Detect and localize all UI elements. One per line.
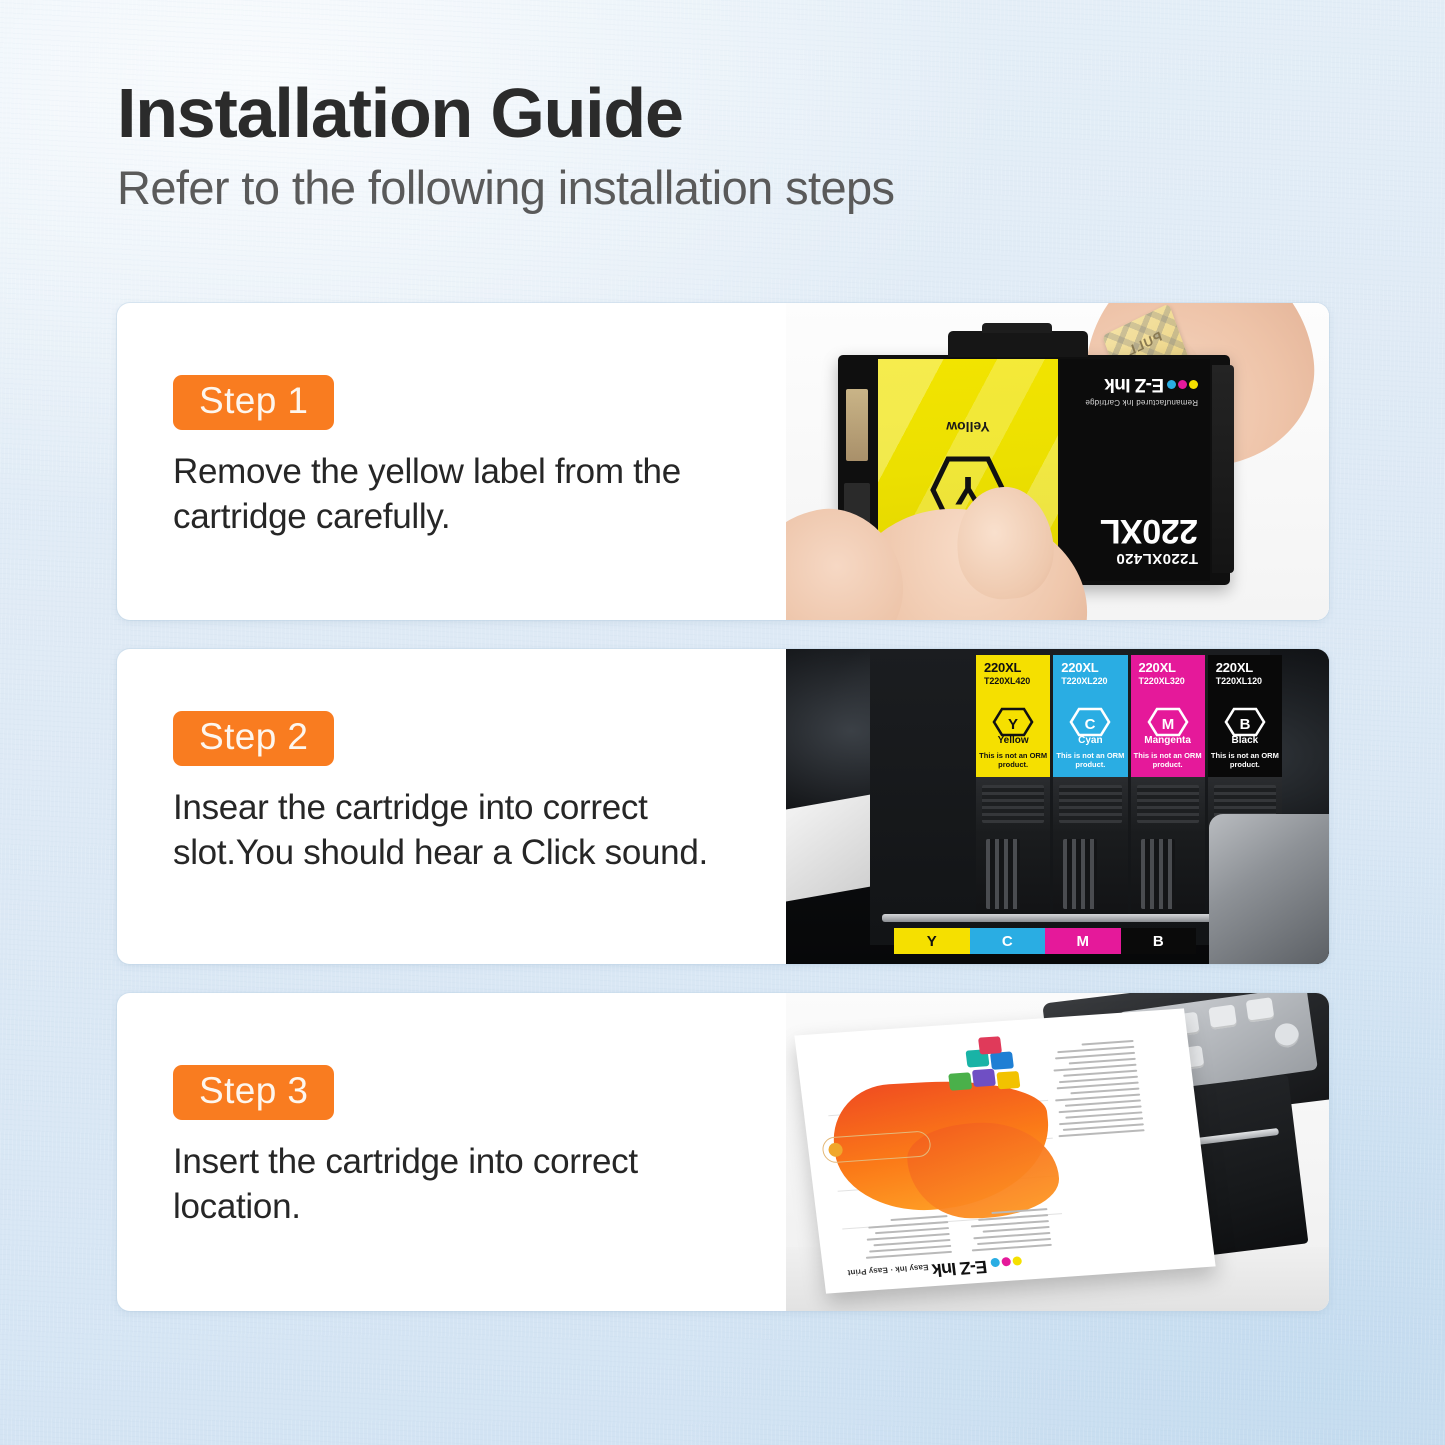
color-block-red <box>978 1036 1002 1054</box>
cartridge-black-model: 220XL <box>1216 661 1282 674</box>
cartridge-part-number: T220XL420 <box>1072 550 1198 567</box>
step-3-text-panel: Step 3 Insert the cartridge into correct… <box>117 993 786 1311</box>
paper-edge <box>786 793 882 902</box>
printed-brand-tagline: Easy Ink · Easy Print <box>847 1262 929 1277</box>
step-1-image: PULL Yellow Y T220X <box>786 303 1329 620</box>
cartridge-cap <box>948 331 1088 357</box>
cartridge-black-part: T220XL120 <box>1216 676 1282 686</box>
header: Installation Guide Refer to the followin… <box>117 78 1337 213</box>
step-3-description: Insert the cartridge into correct locati… <box>173 1140 753 1230</box>
step-3-image: E-Z Ink Easy Ink · Easy Print <box>786 993 1329 1311</box>
cartridge-cyan-part: T220XL220 <box>1061 676 1127 686</box>
black-label-panel: T220XL420 220XL Remanufactured Ink Cartr… <box>1060 359 1210 581</box>
color-block-green <box>948 1072 972 1090</box>
carriage-rail <box>882 914 1212 922</box>
color-block-blue <box>990 1051 1014 1069</box>
step-card-2: Step 2 Insear the cartridge into correct… <box>117 649 1329 964</box>
printed-brand-logo: E-Z Ink Easy Ink · Easy Print <box>847 1256 1023 1284</box>
cartridge-cyan-name: Cyan <box>1053 735 1127 746</box>
step-card-1: Step 1 Remove the yellow label from the … <box>117 303 1329 620</box>
cartridge-cyan: 220XL T220XL220 C Cyan This is not an OR… <box>1053 655 1127 777</box>
color-blocks-graphic <box>924 1036 1020 1094</box>
step-1-description: Remove the yellow label from the cartrid… <box>173 450 753 540</box>
step-3-badge: Step 3 <box>173 1065 334 1120</box>
step-2-image: 220XL T220XL420 Y Yellow This is not an … <box>786 649 1329 964</box>
cmyk-dots-icon <box>990 1256 1022 1267</box>
slot-color-strip: Y C M B <box>894 928 1196 954</box>
panel-button-3 <box>1208 1004 1237 1029</box>
brand-block: Remanufactured Ink Cartridge E-Z Ink <box>1085 373 1198 407</box>
step-2-description: Insear the cartridge into correct slot.Y… <box>173 786 753 876</box>
step-1-badge: Step 1 <box>173 375 334 430</box>
text-column-middle <box>967 1204 1052 1251</box>
power-button-icon <box>1273 1022 1300 1049</box>
cartridge-black-disclaimer: This is not an ORM product. <box>1208 751 1282 770</box>
text-column-left <box>861 1211 952 1259</box>
cartridge-yellow-name: Yellow <box>976 735 1050 746</box>
step-card-3: Step 3 Insert the cartridge into correct… <box>117 993 1329 1311</box>
cartridge-cyan-disclaimer: This is not an ORM product. <box>1053 751 1127 770</box>
cartridge-magenta-part: T220XL320 <box>1139 676 1205 686</box>
cartridge-black: 220XL T220XL120 B Black This is not an O… <box>1208 655 1282 777</box>
cartridge-magenta-model: 220XL <box>1139 661 1205 674</box>
cartridge-yellow-model: 220XL <box>984 661 1050 674</box>
printed-brand-name: E-Z Ink <box>932 1258 988 1278</box>
page-title: Installation Guide <box>117 78 1337 149</box>
cartridge-magenta-disclaimer: This is not an ORM product. <box>1131 751 1205 770</box>
cartridge-model: 220XL <box>1072 514 1198 548</box>
cartridge-magenta-name: Mangenta <box>1131 735 1205 746</box>
cartridge-yellow-part: T220XL420 <box>984 676 1050 686</box>
cartridge-color-name: Yellow <box>878 419 1058 435</box>
slot-label-y: Y <box>894 928 970 954</box>
slot-label-b: B <box>1121 928 1197 954</box>
text-column-right <box>1047 1036 1145 1137</box>
printer-metal-part <box>1209 814 1329 964</box>
cartridge-chip <box>846 389 868 461</box>
slot-label-m: M <box>1045 928 1121 954</box>
cartridge-yellow-disclaimer: This is not an ORM product. <box>976 751 1050 770</box>
step-2-text-panel: Step 2 Insear the cartridge into correct… <box>117 649 786 964</box>
page-subtitle: Refer to the following installation step… <box>117 163 1337 212</box>
brand-name-text: E-Z Ink <box>1105 374 1164 395</box>
slot-label-c: C <box>970 928 1046 954</box>
cartridge-yellow: 220XL T220XL420 Y Yellow This is not an … <box>976 655 1050 777</box>
cartridge-cyan-model: 220XL <box>1061 661 1127 674</box>
brand-subtitle: Remanufactured Ink Cartridge <box>1085 398 1198 407</box>
installation-guide-page: Installation Guide Refer to the followin… <box>0 0 1445 1445</box>
cartridge-body-3 <box>1131 777 1205 919</box>
svg-text:B: B <box>1239 716 1250 733</box>
color-block-purple <box>972 1069 996 1087</box>
cartridge-label-row: 220XL T220XL420 Y Yellow This is not an … <box>976 655 1282 777</box>
cartridge-black-name: Black <box>1208 735 1282 746</box>
cartridge-magenta: 220XL T220XL320 M Mangenta This is not a… <box>1131 655 1205 777</box>
cmyk-dots-icon <box>1167 380 1198 389</box>
svg-text:M: M <box>1161 716 1174 733</box>
printed-sheet: E-Z Ink Easy Ink · Easy Print <box>794 1008 1215 1293</box>
cartridge-body-1 <box>976 777 1050 919</box>
brand-name: E-Z Ink <box>1085 373 1198 395</box>
svg-text:C: C <box>1085 716 1096 733</box>
step-2-badge: Step 2 <box>173 711 334 766</box>
cartridge-body-2 <box>1053 777 1127 919</box>
svg-text:Y: Y <box>1008 716 1018 733</box>
color-block-yellow <box>996 1071 1020 1089</box>
step-1-text-panel: Step 1 Remove the yellow label from the … <box>117 303 786 620</box>
panel-button-4 <box>1246 997 1275 1022</box>
cartridge-side <box>1212 365 1234 573</box>
